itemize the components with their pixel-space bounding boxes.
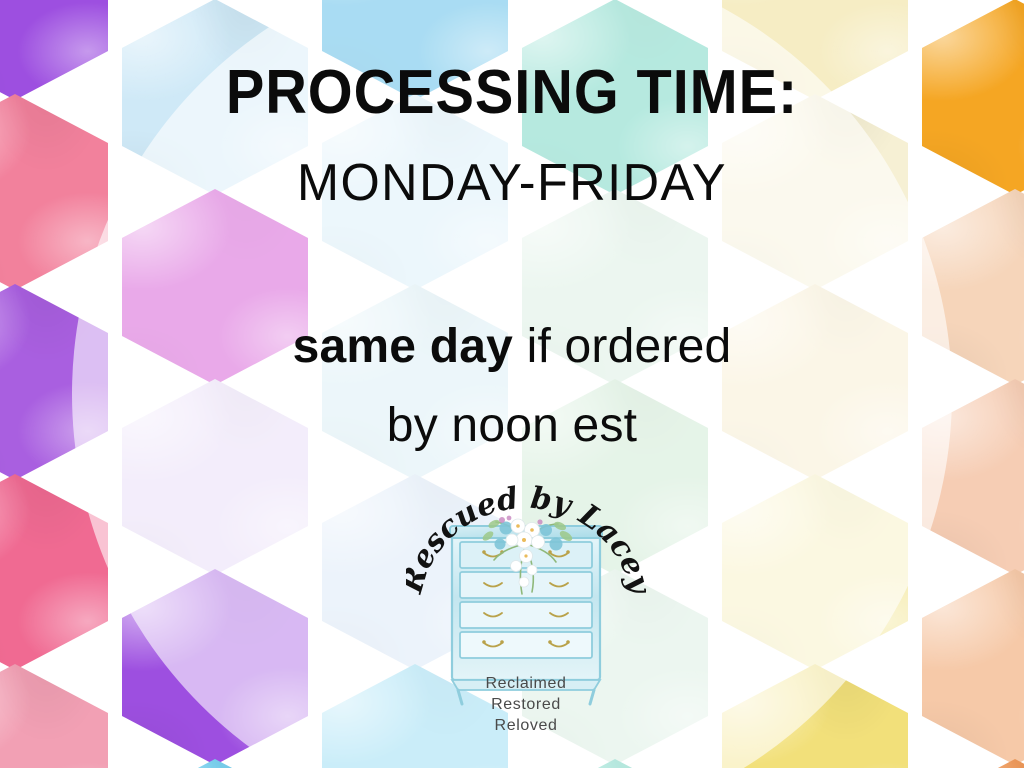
page-title: PROCESSING TIME: bbox=[36, 62, 988, 124]
promo-emphasis: same day bbox=[293, 320, 513, 373]
promo-line-1-rest: if ordered bbox=[513, 320, 731, 373]
brand-logo: Rescued by Lacey Reclaimed Restored Relo… bbox=[406, 478, 646, 740]
tagline-line-3: Reloved bbox=[406, 716, 646, 736]
promo-line-2: by noon est bbox=[0, 402, 1024, 450]
promo-graphic: PROCESSING TIME: MONDAY-FRIDAY same day … bbox=[0, 0, 1024, 768]
headline-subtitle: MONDAY-FRIDAY bbox=[15, 157, 1008, 209]
tagline-line-1: Reclaimed bbox=[406, 674, 646, 694]
promo-line-1: same day if ordered bbox=[0, 323, 1024, 371]
tagline-line-2: Restored bbox=[406, 695, 646, 715]
